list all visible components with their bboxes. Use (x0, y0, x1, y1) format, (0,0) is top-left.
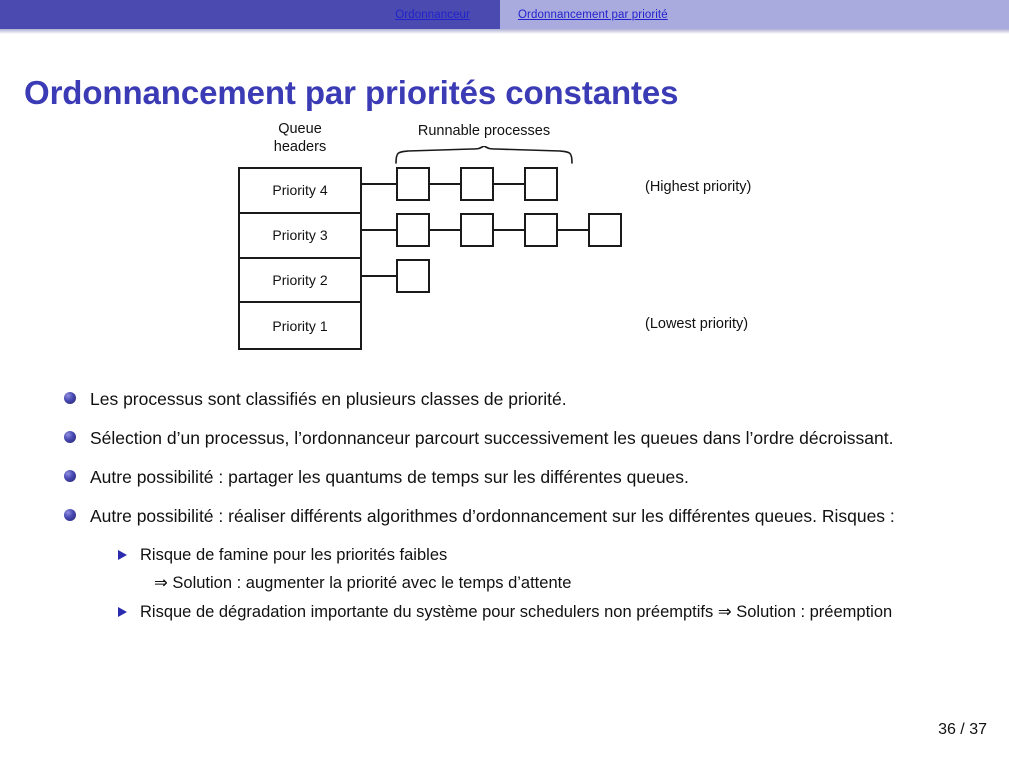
sub-bullet-item: Risque de famine pour les priorités faib… (118, 541, 990, 597)
nav-link-ordonnanceur[interactable]: Ordonnanceur (395, 9, 500, 21)
triangle-bullet-icon (118, 607, 127, 617)
sub-bullet-text: Risque de dégradation importante du syst… (140, 603, 892, 621)
process-box (396, 213, 430, 247)
bullet-text: Sélection d’un processus, l’ordonnanceur… (90, 428, 894, 448)
process-chain-priority-3 (362, 213, 622, 247)
queue-row-label: Priority 2 (272, 272, 327, 288)
process-link-line (558, 229, 588, 231)
bullet-item: Sélection d’un processus, l’ordonnanceur… (60, 424, 990, 452)
sub-bullet-item: Risque de dégradation importante du syst… (118, 598, 990, 626)
process-box (396, 167, 430, 201)
nav-section-inactive: Ordonnancement par priorité (500, 0, 1009, 29)
triangle-bullet-icon (118, 550, 127, 560)
page-title: Ordonnancement par priorités constantes (24, 74, 678, 112)
queue-row-label: Priority 4 (272, 182, 327, 198)
bullet-item: Les processus sont classifiés en plusieu… (60, 385, 990, 413)
navbar-shadow (0, 29, 1009, 34)
queue-headers-table: Priority 4 Priority 3 Priority 2 Priorit… (238, 167, 362, 350)
process-box (588, 213, 622, 247)
bullet-item: Autre possibilité : partager les quantum… (60, 463, 990, 491)
process-link-line (430, 229, 460, 231)
runnable-processes-label: Runnable processes (396, 123, 572, 139)
process-link-line (494, 229, 524, 231)
process-box (460, 213, 494, 247)
process-chain-priority-4 (362, 167, 558, 201)
queue-headers-label-line2: headers (274, 139, 326, 155)
process-chain-priority-2 (362, 259, 430, 293)
process-link-line (430, 183, 460, 185)
note-lowest-priority: (Lowest priority) (645, 316, 748, 332)
bullet-content: Les processus sont classifiés en plusieu… (60, 385, 990, 627)
bullet-text: Les processus sont classifiés en plusieu… (90, 389, 567, 409)
queue-row-priority-1: Priority 1 (240, 303, 360, 348)
note-highest-priority: (Highest priority) (645, 179, 751, 195)
nav-link-ordonnancement-par-priorite[interactable]: Ordonnancement par priorité (500, 9, 668, 21)
process-box (524, 167, 558, 201)
queue-headers-label-line1: Queue (278, 121, 322, 137)
process-box (460, 167, 494, 201)
queue-connector-stub (362, 183, 396, 185)
queue-row-priority-2: Priority 2 (240, 259, 360, 304)
process-box (396, 259, 430, 293)
nav-section-active: Ordonnanceur (0, 0, 500, 29)
sphere-bullet-icon (64, 431, 76, 443)
sphere-bullet-icon (64, 470, 76, 482)
navigation-bar: Ordonnanceur Ordonnancement par priorité (0, 0, 1009, 29)
sphere-bullet-icon (64, 509, 76, 521)
queue-row-priority-4: Priority 4 (240, 169, 360, 214)
curly-brace-icon (394, 146, 574, 164)
queue-row-label: Priority 3 (272, 227, 327, 243)
sphere-bullet-icon (64, 392, 76, 404)
process-link-line (494, 183, 524, 185)
sub-bullet-list: Risque de famine pour les priorités faib… (60, 541, 990, 626)
queue-connector-stub (362, 275, 396, 277)
queue-row-priority-3: Priority 3 (240, 214, 360, 259)
page-number: 36 / 37 (938, 721, 987, 739)
bullet-item: Autre possibilité : réaliser différents … (60, 502, 990, 530)
sub-bullet-text: Risque de famine pour les priorités faib… (140, 546, 447, 564)
queue-connector-stub (362, 229, 396, 231)
process-box (524, 213, 558, 247)
queue-headers-label: Queue headers (238, 120, 362, 156)
sub-bullet-continuation: ⇒ Solution : augmenter la priorité avec … (140, 569, 990, 597)
bullet-text: Autre possibilité : partager les quantum… (90, 467, 689, 487)
priority-queue-diagram: Queue headers Runnable processes Priorit… (0, 110, 1009, 365)
bullet-text: Autre possibilité : réaliser différents … (90, 506, 895, 526)
queue-row-label: Priority 1 (272, 318, 327, 334)
